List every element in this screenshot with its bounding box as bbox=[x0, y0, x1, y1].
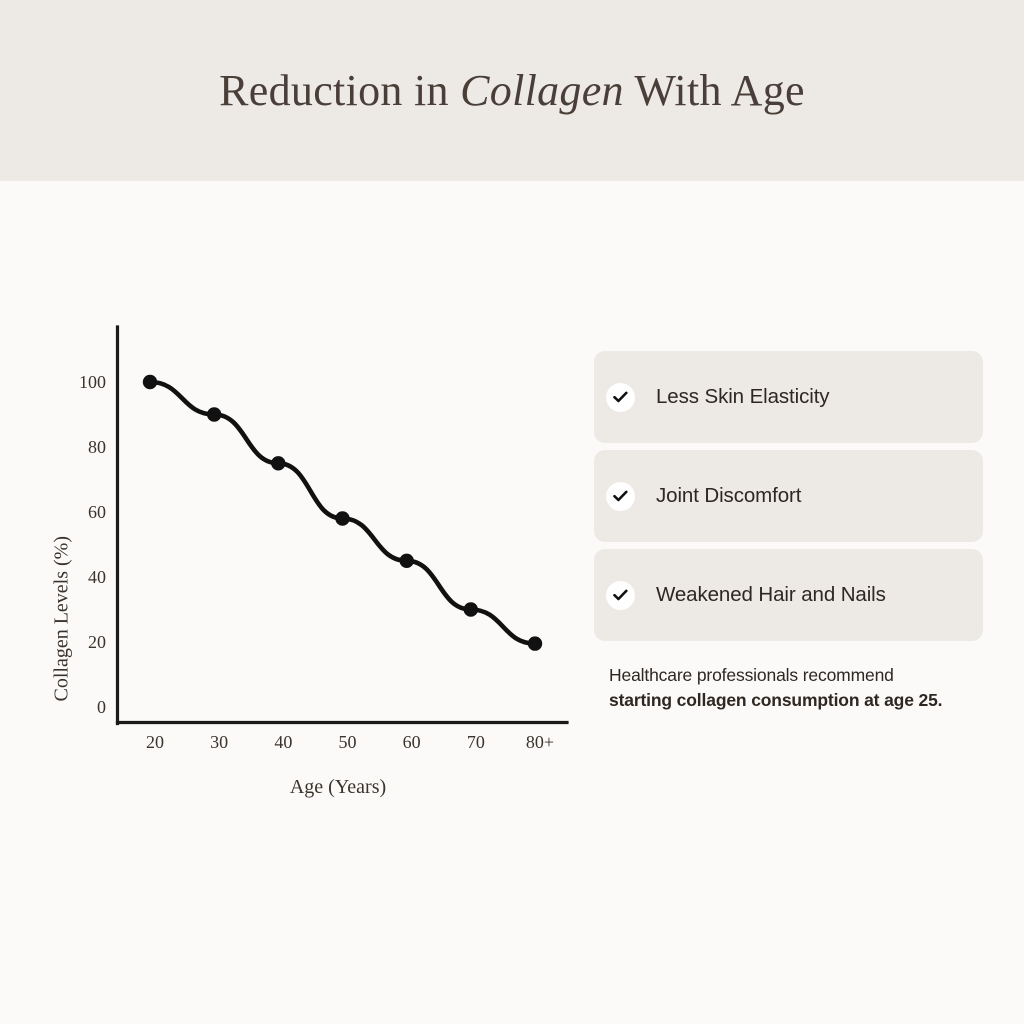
data-point bbox=[464, 602, 478, 616]
x-tick-label: 20 bbox=[146, 732, 164, 752]
x-tick-label: 80+ bbox=[526, 732, 554, 752]
data-point bbox=[271, 456, 285, 470]
data-point bbox=[143, 375, 157, 389]
data-point bbox=[400, 554, 414, 568]
footnote-line-1: Healthcare professionals recommend bbox=[609, 663, 1009, 688]
benefits-list: Less Skin Elasticity Joint Discomfort We… bbox=[594, 351, 983, 648]
footnote: Healthcare professionals recommend start… bbox=[609, 663, 1009, 713]
footnote-line-2: starting collagen consumption at age 25. bbox=[609, 688, 1009, 713]
benefit-card-2[interactable]: Joint Discomfort bbox=[594, 450, 983, 542]
y-axis-tick-labels: 020406080100 bbox=[79, 372, 106, 717]
y-tick-label: 80 bbox=[88, 437, 106, 457]
benefit-card-1[interactable]: Less Skin Elasticity bbox=[594, 351, 983, 443]
check-icon bbox=[606, 482, 635, 511]
page-title-part1: Reduction in bbox=[219, 65, 460, 116]
x-axis-title: Age (Years) bbox=[290, 776, 386, 798]
collagen-line-chart: Collagen Levels (%) Age (Years) 02040608… bbox=[0, 181, 594, 1024]
benefit-label: Less Skin Elasticity bbox=[656, 385, 829, 409]
chart-svg: Collagen Levels (%) Age (Years) 02040608… bbox=[0, 181, 594, 1024]
y-tick-label: 40 bbox=[88, 567, 106, 587]
x-tick-label: 60 bbox=[403, 732, 421, 752]
y-tick-label: 60 bbox=[88, 502, 106, 522]
page-title-emphasis: Collagen bbox=[460, 65, 624, 116]
y-tick-label: 100 bbox=[79, 372, 106, 392]
check-icon bbox=[606, 581, 635, 610]
check-icon bbox=[606, 383, 635, 412]
y-tick-label: 20 bbox=[88, 632, 106, 652]
x-tick-label: 30 bbox=[210, 732, 228, 752]
x-tick-label: 70 bbox=[467, 732, 485, 752]
benefit-card-3[interactable]: Weakened Hair and Nails bbox=[594, 549, 983, 641]
benefit-label: Weakened Hair and Nails bbox=[656, 583, 886, 607]
y-tick-label: 0 bbox=[97, 697, 106, 717]
data-point bbox=[335, 511, 349, 525]
page-title: Reduction in Collagen With Age bbox=[0, 0, 1024, 181]
x-tick-label: 40 bbox=[274, 732, 292, 752]
x-axis-tick-labels: 20304050607080+ bbox=[146, 732, 554, 752]
benefit-label: Joint Discomfort bbox=[656, 484, 801, 508]
data-point bbox=[207, 407, 221, 421]
y-axis-title: Collagen Levels (%) bbox=[51, 536, 73, 702]
data-point bbox=[528, 636, 542, 650]
page-title-part2: With Age bbox=[624, 65, 805, 116]
x-tick-label: 50 bbox=[339, 732, 357, 752]
